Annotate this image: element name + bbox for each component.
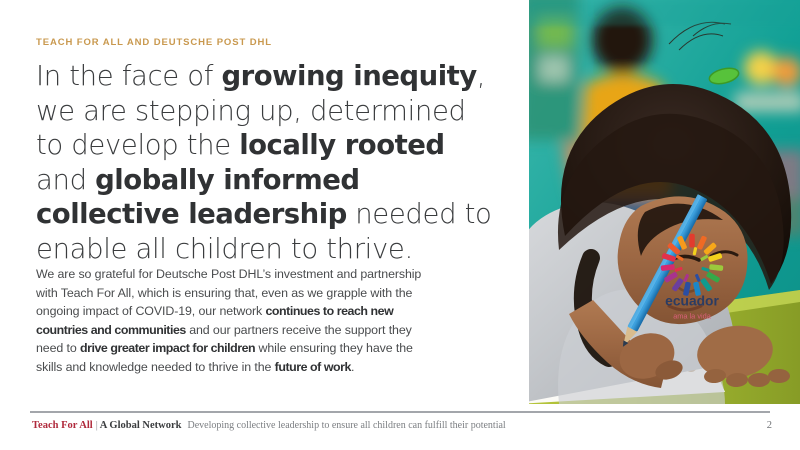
emphasis-run-3: locally rooted bbox=[239, 129, 444, 161]
classroom-photo-illustration: ecuador ama la vida bbox=[529, 0, 800, 404]
shirt-logo-tagline: ama la vida bbox=[673, 311, 712, 320]
emphasis-run-5: future of work bbox=[275, 360, 351, 374]
page-number: 2 bbox=[767, 420, 772, 431]
shirt-logo-wordmark: ecuador bbox=[665, 293, 719, 308]
text-run-0: In the face of bbox=[36, 60, 221, 92]
emphasis-run-1: growing inequity bbox=[221, 60, 476, 92]
slide-headline: In the face of growing inequity, we are … bbox=[36, 59, 496, 266]
text-run-4: and bbox=[36, 164, 95, 196]
footer: Teach For All | A Global Network Develop… bbox=[32, 420, 772, 440]
footer-separator: | bbox=[96, 420, 98, 431]
slide: TEACH FOR ALL AND DEUTSCHE POST DHL In t… bbox=[0, 0, 800, 450]
footer-brand-teach-for-all: Teach For All bbox=[32, 420, 93, 431]
footer-tagline: Developing collective leadership to ensu… bbox=[187, 420, 505, 431]
footer-divider bbox=[30, 411, 770, 413]
text-run-6: . bbox=[351, 360, 354, 374]
emphasis-run-3: drive greater impact for children bbox=[80, 341, 255, 355]
slide-kicker: TEACH FOR ALL AND DEUTSCHE POST DHL bbox=[36, 36, 498, 49]
classroom-photo: ecuador ama la vida bbox=[529, 0, 800, 404]
slide-body-paragraph: We are so grateful for Deutsche Post DHL… bbox=[36, 265, 428, 377]
text-column: TEACH FOR ALL AND DEUTSCHE POST DHL In t… bbox=[36, 36, 498, 266]
footer-subtitle: A Global Network bbox=[100, 420, 182, 431]
